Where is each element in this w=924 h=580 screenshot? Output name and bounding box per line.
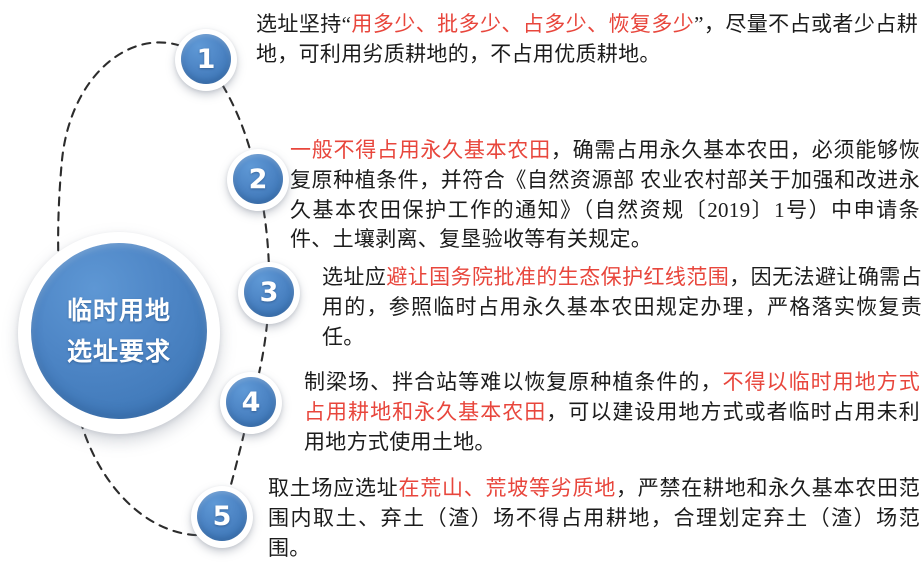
text-segment-1: 制梁场、拌合站等难以恢复原种植条件的， xyxy=(304,370,723,394)
node-circle-5[interactable]: 5 xyxy=(191,486,253,548)
node-number-3: 3 xyxy=(260,279,279,306)
hub-title-line1: 临时用地 xyxy=(67,298,171,323)
text-segment-1: 选址应 xyxy=(322,265,386,289)
node-circle-1[interactable]: 1 xyxy=(175,29,237,91)
item-text-1: 选址坚持“用多少、批多少、占多少、恢复多少”，尽量不占或者少占耕地，可利用劣质耕… xyxy=(256,10,918,70)
node-number-4: 4 xyxy=(242,389,261,416)
hub-title-line2: 选址要求 xyxy=(67,339,171,364)
text-segment-1: 取土场应选址 xyxy=(268,476,399,500)
node-number-1: 1 xyxy=(197,46,216,73)
node-circle-1-inner: 1 xyxy=(181,34,231,84)
node-circle-3[interactable]: 3 xyxy=(238,262,300,324)
infographic-page: 临时用地 选址要求 1 2 3 4 5 选址坚持“用多少、批多少、占多少、恢复多… xyxy=(0,0,924,580)
item-text-4: 制梁场、拌合站等难以恢复原种植条件的，不得以临时用地方式占用耕地和永久基本农田，… xyxy=(304,368,920,457)
item-text-5: 取土场应选址在荒山、荒坡等劣质地，严禁在耕地和永久基本农田范围内取土、弃土（渣）… xyxy=(268,474,920,563)
item-text-3: 选址应避让国务院批准的生态保护红线范围，因无法避让确需占用的，参照临时占用永久基… xyxy=(322,263,922,352)
text-segment-2: 避让国务院批准的生态保护红线范围 xyxy=(386,265,729,289)
node-number-5: 5 xyxy=(213,503,232,530)
text-segment-2: 用多少、批多少、占多少、恢复多少 xyxy=(351,12,694,36)
node-circle-2-inner: 2 xyxy=(233,154,283,204)
node-circle-2[interactable]: 2 xyxy=(227,149,289,211)
node-number-2: 2 xyxy=(249,166,268,193)
node-circle-4-inner: 4 xyxy=(226,377,276,427)
node-circle-4[interactable]: 4 xyxy=(220,372,282,434)
text-segment-1: 选址坚持“ xyxy=(256,12,351,36)
text-segment-1: 一般不得占用永久基本农田 xyxy=(290,138,551,162)
text-segment-2: 在荒山、荒坡等劣质地 xyxy=(399,476,616,500)
item-text-2: 一般不得占用永久基本农田，确需占用永久基本农田，必须能够恢复原种植条件，并符合《… xyxy=(290,136,920,255)
hub-circle-inner: 临时用地 选址要求 xyxy=(31,243,207,419)
hub-circle[interactable]: 临时用地 选址要求 xyxy=(18,232,220,434)
node-circle-5-inner: 5 xyxy=(197,491,247,541)
node-circle-3-inner: 3 xyxy=(244,267,294,317)
